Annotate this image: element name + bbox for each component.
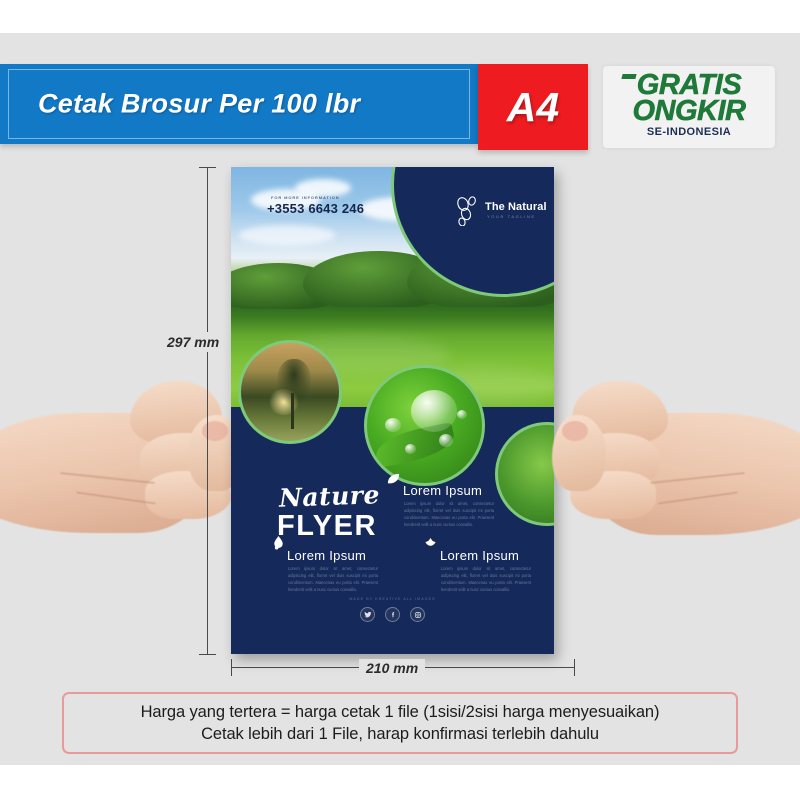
phone-caption: FOR MORE INFORMATION — [271, 195, 340, 200]
pine-tree — [277, 359, 311, 405]
product-listing-image: Cetak Brosur Per 100 lbr A4 GRATIS ONGKI… — [0, 0, 800, 800]
price-note-box: Harga yang tertera = harga cetak 1 file … — [62, 692, 738, 754]
water-drop — [439, 434, 453, 447]
section-1-body: Lorem ipsum dolor sit amet, consectetur … — [404, 500, 494, 529]
paper-size-badge: A4 — [478, 64, 588, 150]
sprout-icon — [423, 535, 438, 550]
water-drop — [405, 444, 416, 454]
price-note-line-2: Cetak lebih dari 1 File, harap konfirmas… — [201, 725, 599, 744]
left-thumb-nail — [202, 421, 228, 441]
free-shipping-line3: SE-INDONESIA — [603, 126, 775, 138]
price-note-line-1: Harga yang tertera = harga cetak 1 file … — [141, 703, 660, 722]
banner-title: Cetak Brosur Per 100 lbr — [38, 89, 360, 120]
flyer-logo: The Natural YOUR TAGLINE — [455, 195, 551, 227]
flyer-title-bold: FLYER — [277, 510, 377, 543]
right-thumb-nail — [562, 421, 588, 441]
height-dimension-cap-top — [199, 167, 216, 168]
flyer-title-script: Nature — [279, 480, 381, 513]
width-dimension-cap-left — [231, 659, 232, 676]
section-2-body: Lorem ipsum dolor sit amet, consectetur … — [288, 565, 378, 594]
section-1-heading: Lorem Ipsum — [403, 483, 482, 498]
water-drop — [457, 410, 467, 419]
instagram-icon — [410, 607, 425, 622]
flyer-footer-credit: MADE BY KREATIVE ALL IMAGES — [231, 597, 554, 601]
water-drop-icon — [271, 535, 286, 550]
free-shipping-line2: ONGKIR — [603, 95, 775, 128]
social-icons — [231, 607, 554, 622]
left-hand — [0, 385, 265, 560]
leaf-icon — [386, 472, 401, 487]
height-dimension-cap-bottom — [199, 654, 216, 655]
water-drop — [411, 390, 457, 432]
facebook-icon — [385, 607, 400, 622]
section-2-heading: Lorem Ipsum — [287, 548, 366, 563]
banner-blue-bar: Cetak Brosur Per 100 lbr — [0, 64, 478, 144]
cloud — [239, 225, 335, 245]
pine-trunk — [291, 393, 294, 429]
water-drop — [385, 418, 401, 432]
right-hand — [540, 385, 800, 560]
section-3-heading: Lorem Ipsum — [440, 548, 519, 563]
paper-size-label: A4 — [478, 64, 588, 150]
logo-name: The Natural — [485, 201, 547, 213]
section-3-body: Lorem ipsum dolor sit amet, consectetur … — [441, 565, 531, 594]
phone-number: +3553 6643 246 — [267, 201, 364, 216]
free-shipping-badge: GRATIS ONGKIR SE-INDONESIA — [603, 66, 775, 148]
flyer-artwork: FOR MORE INFORMATION +3553 6643 246 The … — [231, 167, 554, 654]
twitter-icon — [360, 607, 375, 622]
water-drops-photo-circle — [364, 365, 485, 486]
height-dimension-label: 297 mm — [163, 332, 223, 352]
sunset-photo-circle — [238, 340, 342, 444]
height-dimension-line — [207, 167, 208, 654]
width-dimension-cap-right — [574, 659, 575, 676]
natural-leaf-logo-icon — [455, 196, 481, 226]
logo-tagline: YOUR TAGLINE — [487, 214, 536, 219]
width-dimension-label: 210 mm — [359, 659, 425, 677]
